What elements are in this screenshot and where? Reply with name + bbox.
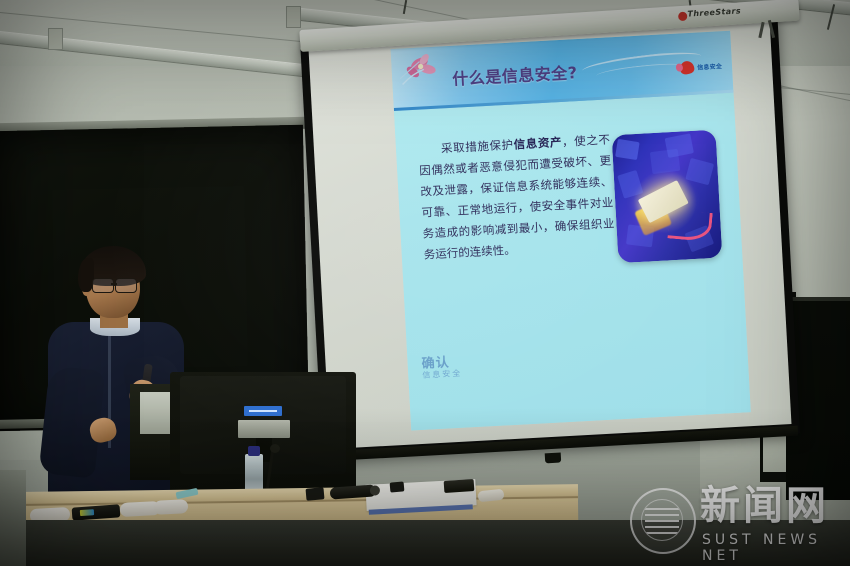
eyeglasses-icon [115,278,137,293]
brand-logo-icon [678,12,688,22]
rail-mount [48,28,63,50]
microphone-head-icon [270,444,280,453]
eyeglasses-icon [92,278,114,293]
slide-body-part1: 采取措施保护 [441,138,514,156]
desk-accessory [306,487,325,501]
pointer-device [390,481,405,492]
side-panel-face [140,392,174,434]
slide-title: 什么是信息安全? [452,59,578,90]
floor [0,520,850,566]
lecture-photo-scene: 什么是信息安全? 信息安全 采取措施保护信息资产，使之不因偶然或者恶意侵犯而遭受… [0,0,850,566]
projected-slide: 什么是信息安全? 信息安全 采取措施保护信息资产，使之不因偶然或者恶意侵犯而遭受… [391,31,751,431]
camera-block [444,479,475,493]
heart-logo-icon [679,60,695,75]
eyeglasses-bridge [111,283,117,285]
slide-body-text: 采取措施保护信息资产，使之不因偶然或者恶意侵犯而遭受破坏、更改及泄露，保证信息系… [418,129,617,265]
flower-decoration-icon [397,48,451,95]
slide-image [612,130,723,263]
slide-corner-logo: 信息安全 [680,59,722,74]
slide-calligraphy-watermark: 确认 信息安全 [421,355,478,420]
monitor-blue-label [244,406,282,416]
whiteboard-eraser [154,499,189,515]
slide-body-bold: 信息资产 [513,135,562,152]
rail-mount [286,6,301,28]
screen-surface: 什么是信息安全? 信息安全 采取措施保护信息资产，使之不因偶然或者恶意侵犯而遭受… [308,21,791,449]
slide-logo-label: 信息安全 [697,61,722,71]
screen-pull-tab[interactable] [545,453,562,464]
slide-watermark-sub: 信息安全 [422,368,476,381]
left-floor-edge [0,470,26,566]
projection-screen: 什么是信息安全? 信息安全 采取措施保护信息资产，使之不因偶然或者恶意侵犯而遭受… [300,14,800,459]
monitor-spec-plate [238,420,290,438]
bottle-cap [248,446,260,456]
housing-brand-label: ThreeStars [687,6,741,18]
